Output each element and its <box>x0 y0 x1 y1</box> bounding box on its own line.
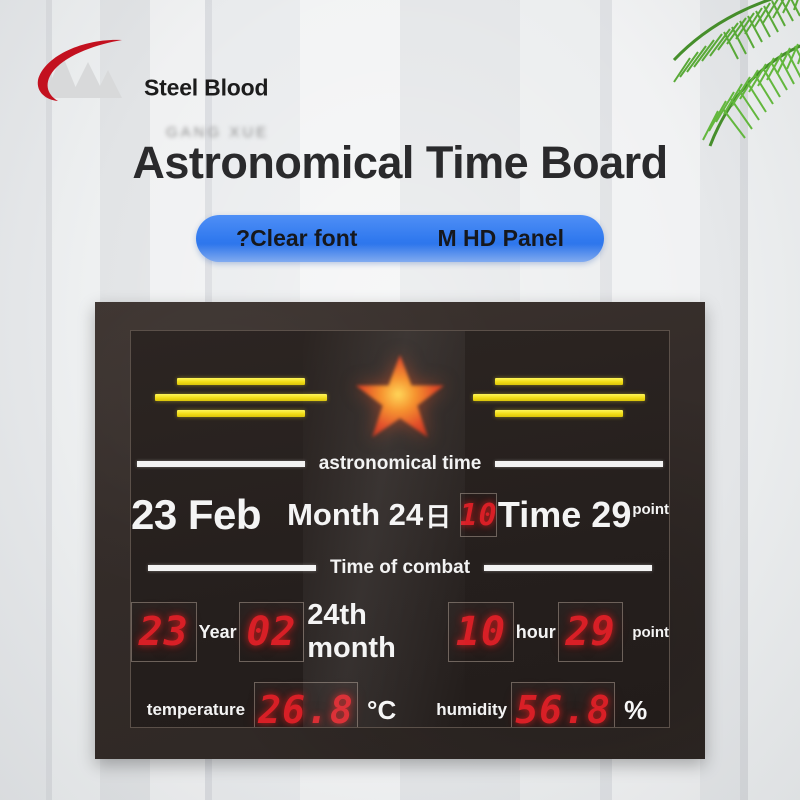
year-unit-label: Year <box>199 622 237 643</box>
humidity-label: humidity <box>436 700 507 720</box>
minute-led-box: 29 <box>558 602 624 662</box>
combat-separator-row: Time of combat <box>131 555 669 581</box>
astronomical-point-suffix: point <box>632 501 669 518</box>
temperature-label: temperature <box>147 700 245 720</box>
combat-separator-line-left <box>148 565 316 571</box>
star-wrapper <box>345 351 455 443</box>
astronomical-values-row: 23 Feb Month 24 日 10 Time 29 point <box>131 483 669 547</box>
brand-logo-area: Steel Blood GANG XUE <box>26 36 326 110</box>
environment-row: temperature 26.8 °C humidity 56.8 % <box>131 679 669 728</box>
pill-label-right: M HD Panel <box>437 225 564 252</box>
humidity-unit: % <box>624 695 647 726</box>
temperature-led-value: 26.8 <box>258 688 354 728</box>
year-led-value: 23 <box>139 609 189 655</box>
astronomical-month-label: Month 24 <box>287 497 423 533</box>
minute-led-value: 29 <box>565 609 615 655</box>
bar-right-3 <box>495 410 623 417</box>
swoosh-mountain-logo-icon <box>26 36 136 106</box>
astronomical-hour-led-value: 10 <box>460 498 497 533</box>
astronomical-time-title: astronomical time <box>319 453 482 475</box>
bar-right-1 <box>495 378 623 385</box>
brand-name: Steel Blood <box>144 75 268 102</box>
astronomical-date: 23 Feb <box>131 491 261 539</box>
bar-left-2 <box>155 394 327 401</box>
year-led-box: 23 <box>131 602 197 662</box>
temperature-led-box: 26.8 <box>254 682 358 728</box>
minute-unit-label: point <box>632 624 669 641</box>
board-display-panel: astronomical time 23 Feb Month 24 日 10 T… <box>130 330 670 728</box>
five-pointed-star-icon <box>352 351 448 443</box>
right-bars-group <box>473 378 645 417</box>
astronomical-time-label: Time 29 <box>498 494 631 536</box>
combat-month-label: 24th month <box>307 599 445 665</box>
combat-time-title: Time of combat <box>330 557 470 579</box>
left-bars-group <box>155 378 327 417</box>
hour-unit-label: hour <box>516 622 556 643</box>
month-led-box: 02 <box>239 602 305 662</box>
astronomical-time-board: astronomical time 23 Feb Month 24 日 10 T… <box>95 302 705 759</box>
page-title: Astronomical Time Board <box>0 137 800 189</box>
humidity-led-box: 56.8 <box>511 682 615 728</box>
emblem-row <box>131 349 669 445</box>
pill-label-left: ?Clear font <box>236 225 357 252</box>
hour-led-box: 10 <box>448 602 514 662</box>
combat-led-row: 23 Year 02 24th month 10 hour 29 point <box>131 599 669 665</box>
separator-line-right <box>495 461 663 467</box>
separator-line-left <box>137 461 305 467</box>
month-led-value: 02 <box>246 609 296 655</box>
bar-left-1 <box>177 378 305 385</box>
combat-separator-line-right <box>484 565 652 571</box>
feature-pill-banner[interactable]: ?Clear font M HD Panel <box>196 215 604 262</box>
bar-left-3 <box>177 410 305 417</box>
astronomical-separator-row: astronomical time <box>131 451 669 477</box>
temperature-unit: °C <box>367 695 396 726</box>
hour-led-value: 10 <box>456 609 506 655</box>
bar-right-2 <box>473 394 645 401</box>
humidity-led-value: 56.8 <box>515 688 611 728</box>
astronomical-hour-led-box: 10 <box>460 493 497 537</box>
astronomical-day-char: 日 <box>425 497 451 534</box>
